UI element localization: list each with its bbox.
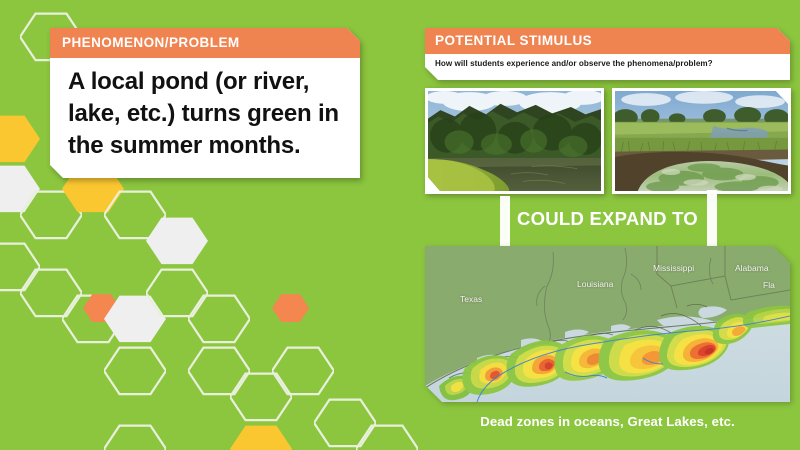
gulf-dead-zone-map: Texas Louisiana Mississippi Alabama Fla [425, 246, 790, 402]
hexagon-1 [0, 112, 40, 166]
phenomenon-header-label: PHENOMENON/PROBLEM [62, 35, 240, 50]
hexagon-14 [272, 292, 309, 324]
hexagon-18 [272, 344, 334, 398]
hexagon-19 [230, 422, 292, 450]
algae-bloom-shoreline-photo-inner [615, 91, 788, 191]
green-algae-pond-photo-inner [428, 91, 601, 191]
hexagon-13 [188, 292, 250, 346]
phenomenon-body-text: A local pond (or river, lake, etc.) turn… [68, 66, 346, 162]
slide-canvas: PHENOMENON/PROBLEM A local pond (or rive… [0, 0, 800, 450]
could-expand-to-label: COULD EXPAND TO [425, 208, 790, 230]
hexagon-20 [104, 422, 166, 450]
green-algae-pond-photo [425, 88, 604, 194]
map-image: Texas Louisiana Mississippi Alabama Fla [425, 246, 790, 402]
phenomenon-card-header: PHENOMENON/PROBLEM [50, 28, 360, 58]
potential-stimulus-card: POTENTIAL STIMULUS How will students exp… [425, 28, 790, 80]
map-caption: Dead zones in oceans, Great Lakes, etc. [425, 414, 790, 429]
stimulus-header-label: POTENTIAL STIMULUS [435, 33, 592, 48]
hexagon-23 [356, 422, 418, 450]
stimulus-card-header: POTENTIAL STIMULUS [425, 28, 790, 54]
hexagon-6 [146, 214, 208, 268]
stimulus-subtitle: How will students experience and/or obse… [435, 59, 780, 68]
phenomenon-problem-card: PHENOMENON/PROBLEM A local pond (or rive… [50, 28, 360, 178]
algae-bloom-shoreline-photo [612, 88, 791, 194]
hexagon-15 [104, 344, 166, 398]
